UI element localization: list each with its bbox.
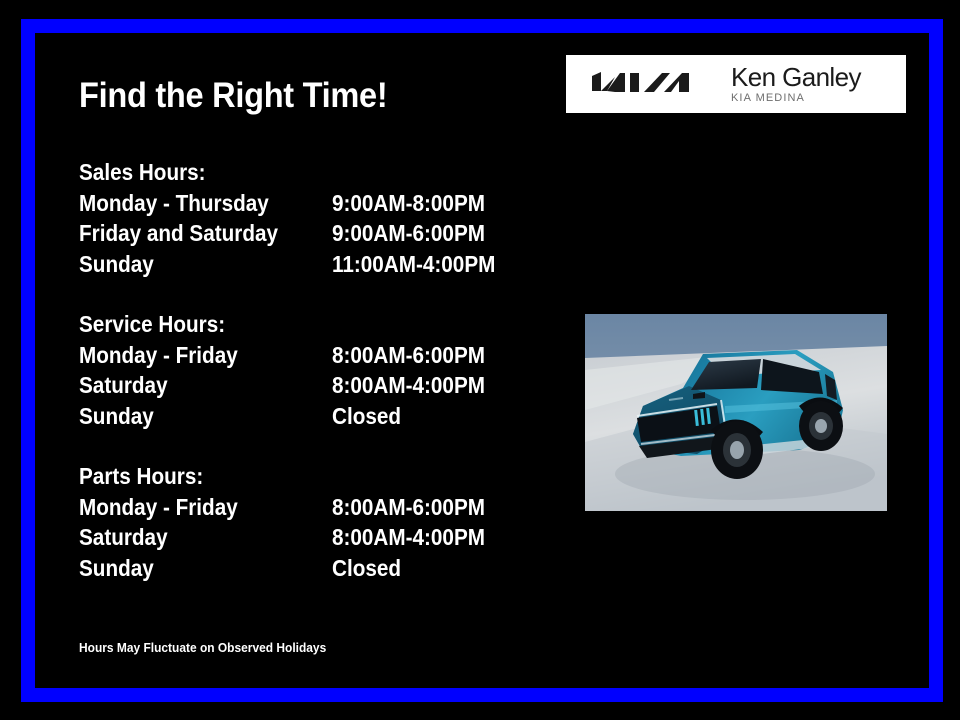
hours-time-value: Closed — [332, 553, 401, 584]
hours-day-label: Monday - Friday — [79, 340, 238, 371]
dealer-logo-text: Ken Ganley KIA MEDINA — [731, 64, 861, 105]
hours-day-label: Sunday — [79, 553, 154, 584]
hours-row: Sunday Closed — [79, 553, 217, 584]
hours-row: Saturday 8:00AM-4:00PM — [79, 370, 241, 401]
hours-time-value: Closed — [332, 401, 401, 432]
hours-day-label: Saturday — [79, 522, 168, 553]
hours-day-label: Monday - Friday — [79, 492, 238, 523]
holiday-disclaimer: Hours May Fluctuate on Observed Holidays — [79, 640, 326, 655]
hours-day-label: Saturday — [79, 370, 168, 401]
hours-row: Monday - Friday 8:00AM-6:00PM — [79, 340, 241, 371]
hours-section-sales: Sales Hours: Monday - Thursday 9:00AM-8:… — [79, 157, 220, 279]
hours-day-label: Friday and Saturday — [79, 218, 278, 249]
hours-row: Saturday 8:00AM-4:00PM — [79, 522, 217, 553]
hours-row: Monday - Friday 8:00AM-6:00PM — [79, 492, 217, 523]
hours-section-service: Service Hours: Monday - Friday 8:00AM-6:… — [79, 309, 241, 431]
hours-time-value: 8:00AM-6:00PM — [332, 340, 485, 371]
hours-time-value: 11:00AM-4:00PM — [332, 249, 495, 280]
kia-ev9-illustration — [585, 314, 887, 511]
hours-time-value: 9:00AM-8:00PM — [332, 188, 485, 219]
hours-day-label: Monday - Thursday — [79, 188, 269, 219]
dealer-name: Ken Ganley — [731, 64, 861, 91]
hours-row: Friday and Saturday 9:00AM-6:00PM — [79, 218, 220, 249]
slide-canvas: Find the Right Time! Sales Hours: Monday… — [0, 0, 960, 720]
hours-time-value: 8:00AM-4:00PM — [332, 522, 485, 553]
hours-section-parts: Parts Hours: Monday - Friday 8:00AM-6:00… — [79, 461, 217, 583]
section-heading: Sales Hours: — [79, 157, 206, 188]
vehicle-photo — [585, 314, 887, 511]
dealer-logo-plate: Ken Ganley KIA MEDINA — [566, 55, 906, 113]
hours-row: Sunday 11:00AM-4:00PM — [79, 249, 220, 280]
hours-day-label: Sunday — [79, 401, 154, 432]
dealer-subtitle: KIA MEDINA — [731, 92, 861, 105]
kia-logo-icon — [589, 69, 709, 99]
hours-time-value: 9:00AM-6:00PM — [332, 218, 485, 249]
hours-time-value: 8:00AM-4:00PM — [332, 370, 485, 401]
hours-row: Monday - Thursday 9:00AM-8:00PM — [79, 188, 220, 219]
page-title: Find the Right Time! — [79, 78, 387, 113]
hours-day-label: Sunday — [79, 249, 154, 280]
section-heading: Parts Hours: — [79, 461, 203, 492]
hours-time-value: 8:00AM-6:00PM — [332, 492, 485, 523]
hours-row: Sunday Closed — [79, 401, 241, 432]
section-heading: Service Hours: — [79, 309, 225, 340]
